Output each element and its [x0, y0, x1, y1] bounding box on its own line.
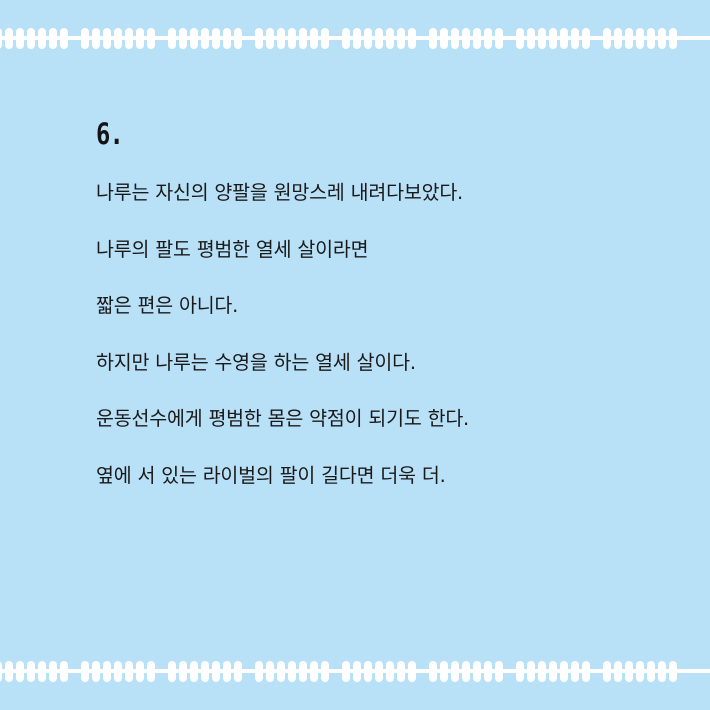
bead-group [342, 28, 416, 49]
bead-icon [125, 661, 133, 682]
bead-group [516, 28, 590, 49]
bead-icon [473, 661, 481, 682]
bead-icon [625, 28, 633, 49]
bead-icon [582, 661, 590, 682]
bead-icon [255, 661, 263, 682]
bead-icon [571, 661, 579, 682]
bead-icon [364, 661, 372, 682]
bead-icon [103, 661, 111, 682]
bead-icon [582, 28, 590, 49]
story-line: 나루는 자신의 양팔을 원망스레 내려다보았다. [96, 183, 656, 203]
story-panel: 6. 나루는 자신의 양팔을 원망스레 내려다보았다. 나루의 팔도 평범한 열… [0, 0, 710, 710]
bead-icon [462, 28, 470, 49]
bead-icon [397, 661, 405, 682]
panel-content: 6. 나루는 자신의 양팔을 원망스레 내려다보았다. 나루의 팔도 평범한 열… [96, 120, 656, 485]
bead-icon [81, 661, 89, 682]
bead-icon [549, 661, 557, 682]
bead-icon [190, 28, 198, 49]
bead-group [0, 28, 68, 49]
bead-icon [364, 28, 372, 49]
bead-icon [147, 28, 155, 49]
bead-icon [495, 661, 503, 682]
bead-icon [288, 28, 296, 49]
bead-icon [516, 661, 524, 682]
bead-icon [179, 28, 187, 49]
bead-icon [255, 28, 263, 49]
bead-icon [38, 28, 46, 49]
bead-icon [234, 28, 242, 49]
bead-icon [560, 661, 568, 682]
bead-icon [16, 661, 24, 682]
section-number: 6. [96, 120, 555, 149]
bead-icon [321, 661, 329, 682]
bead-icon [484, 661, 492, 682]
bead-icon [60, 661, 68, 682]
bead-icon [516, 28, 524, 49]
bead-icon [386, 28, 394, 49]
story-line: 나루의 팔도 평범한 열세 살이라면 [96, 240, 656, 260]
bead-icon [571, 28, 579, 49]
bead-icon [353, 28, 361, 49]
bead-icon [299, 28, 307, 49]
bead-icon [5, 661, 13, 682]
bead-icon [549, 28, 557, 49]
bead-icon [342, 661, 350, 682]
bead-icon [190, 661, 198, 682]
bead-icon [103, 28, 111, 49]
bead-icon [614, 661, 622, 682]
bead-icon [647, 28, 655, 49]
bead-icon [473, 28, 481, 49]
bead-icon [27, 661, 35, 682]
bead-icon [81, 28, 89, 49]
bead-icon [179, 661, 187, 682]
bead-group [429, 661, 503, 682]
bead-icon [114, 28, 122, 49]
bead-icon [440, 661, 448, 682]
bead-icon [495, 28, 503, 49]
bead-group [516, 661, 590, 682]
bead-icon [168, 28, 176, 49]
bead-group [81, 661, 155, 682]
bead-icon [375, 661, 383, 682]
bead-icon [266, 661, 274, 682]
story-text-block: 나루는 자신의 양팔을 원망스레 내려다보았다. 나루의 팔도 평범한 열세 살… [96, 183, 656, 485]
bead-icon [462, 661, 470, 682]
bead-icon [310, 661, 318, 682]
bead-icon [647, 661, 655, 682]
bead-icon [484, 28, 492, 49]
bead-icon [625, 661, 633, 682]
bead-icon [49, 661, 57, 682]
bottom-bead-divider [0, 660, 710, 682]
bead-group [603, 28, 677, 49]
bead-icon [310, 28, 318, 49]
bead-icon [266, 28, 274, 49]
bead-group [168, 661, 242, 682]
bead-icon [429, 28, 437, 49]
bead-icon [234, 661, 242, 682]
bead-icon [527, 28, 535, 49]
bead-icon [288, 661, 296, 682]
bead-icon [538, 28, 546, 49]
bead-icon [299, 661, 307, 682]
bead-icon [603, 28, 611, 49]
bead-icon [223, 28, 231, 49]
bead-icon [636, 661, 644, 682]
bead-icon [92, 28, 100, 49]
story-line: 옆에 서 있는 라이벌의 팔이 길다면 더욱 더. [96, 466, 656, 486]
bead-icon [375, 28, 383, 49]
bead-icon [603, 661, 611, 682]
top-bead-divider [0, 27, 710, 49]
bead-icon [0, 661, 2, 682]
bead-icon [201, 661, 209, 682]
bead-icon [147, 661, 155, 682]
bead-icon [451, 28, 459, 49]
bead-track-bottom [0, 660, 710, 682]
bead-group [255, 661, 329, 682]
bead-icon [49, 28, 57, 49]
bead-icon [92, 661, 100, 682]
bead-icon [277, 661, 285, 682]
bead-icon [223, 661, 231, 682]
bead-icon [658, 28, 666, 49]
bead-icon [429, 661, 437, 682]
bead-icon [212, 661, 220, 682]
bead-icon [212, 28, 220, 49]
bead-icon [168, 661, 176, 682]
bead-icon [321, 28, 329, 49]
bead-icon [201, 28, 209, 49]
bead-icon [408, 661, 416, 682]
bead-icon [451, 661, 459, 682]
bead-icon [408, 28, 416, 49]
bead-group [342, 661, 416, 682]
bead-icon [669, 28, 677, 49]
bead-group [603, 661, 677, 682]
bead-icon [114, 661, 122, 682]
bead-group [255, 28, 329, 49]
bead-icon [669, 661, 677, 682]
bead-icon [136, 28, 144, 49]
bead-icon [136, 661, 144, 682]
bead-icon [658, 661, 666, 682]
bead-icon [614, 28, 622, 49]
bead-icon [5, 28, 13, 49]
bead-icon [440, 28, 448, 49]
bead-group [168, 28, 242, 49]
bead-icon [342, 28, 350, 49]
bead-icon [353, 661, 361, 682]
bead-icon [277, 28, 285, 49]
bead-track-top [0, 27, 710, 49]
bead-icon [527, 661, 535, 682]
story-line: 운동선수에게 평범한 몸은 약점이 되기도 한다. [96, 409, 656, 429]
story-line: 하지만 나루는 수영을 하는 열세 살이다. [96, 353, 656, 373]
bead-icon [27, 28, 35, 49]
bead-icon [636, 28, 644, 49]
bead-group [429, 28, 503, 49]
bead-icon [386, 661, 394, 682]
bead-icon [0, 28, 2, 49]
bead-icon [38, 661, 46, 682]
bead-icon [538, 661, 546, 682]
bead-icon [560, 28, 568, 49]
story-line: 짧은 편은 아니다. [96, 296, 656, 316]
bead-group [0, 661, 68, 682]
bead-group [81, 28, 155, 49]
bead-icon [125, 28, 133, 49]
bead-icon [16, 28, 24, 49]
bead-icon [397, 28, 405, 49]
bead-icon [60, 28, 68, 49]
